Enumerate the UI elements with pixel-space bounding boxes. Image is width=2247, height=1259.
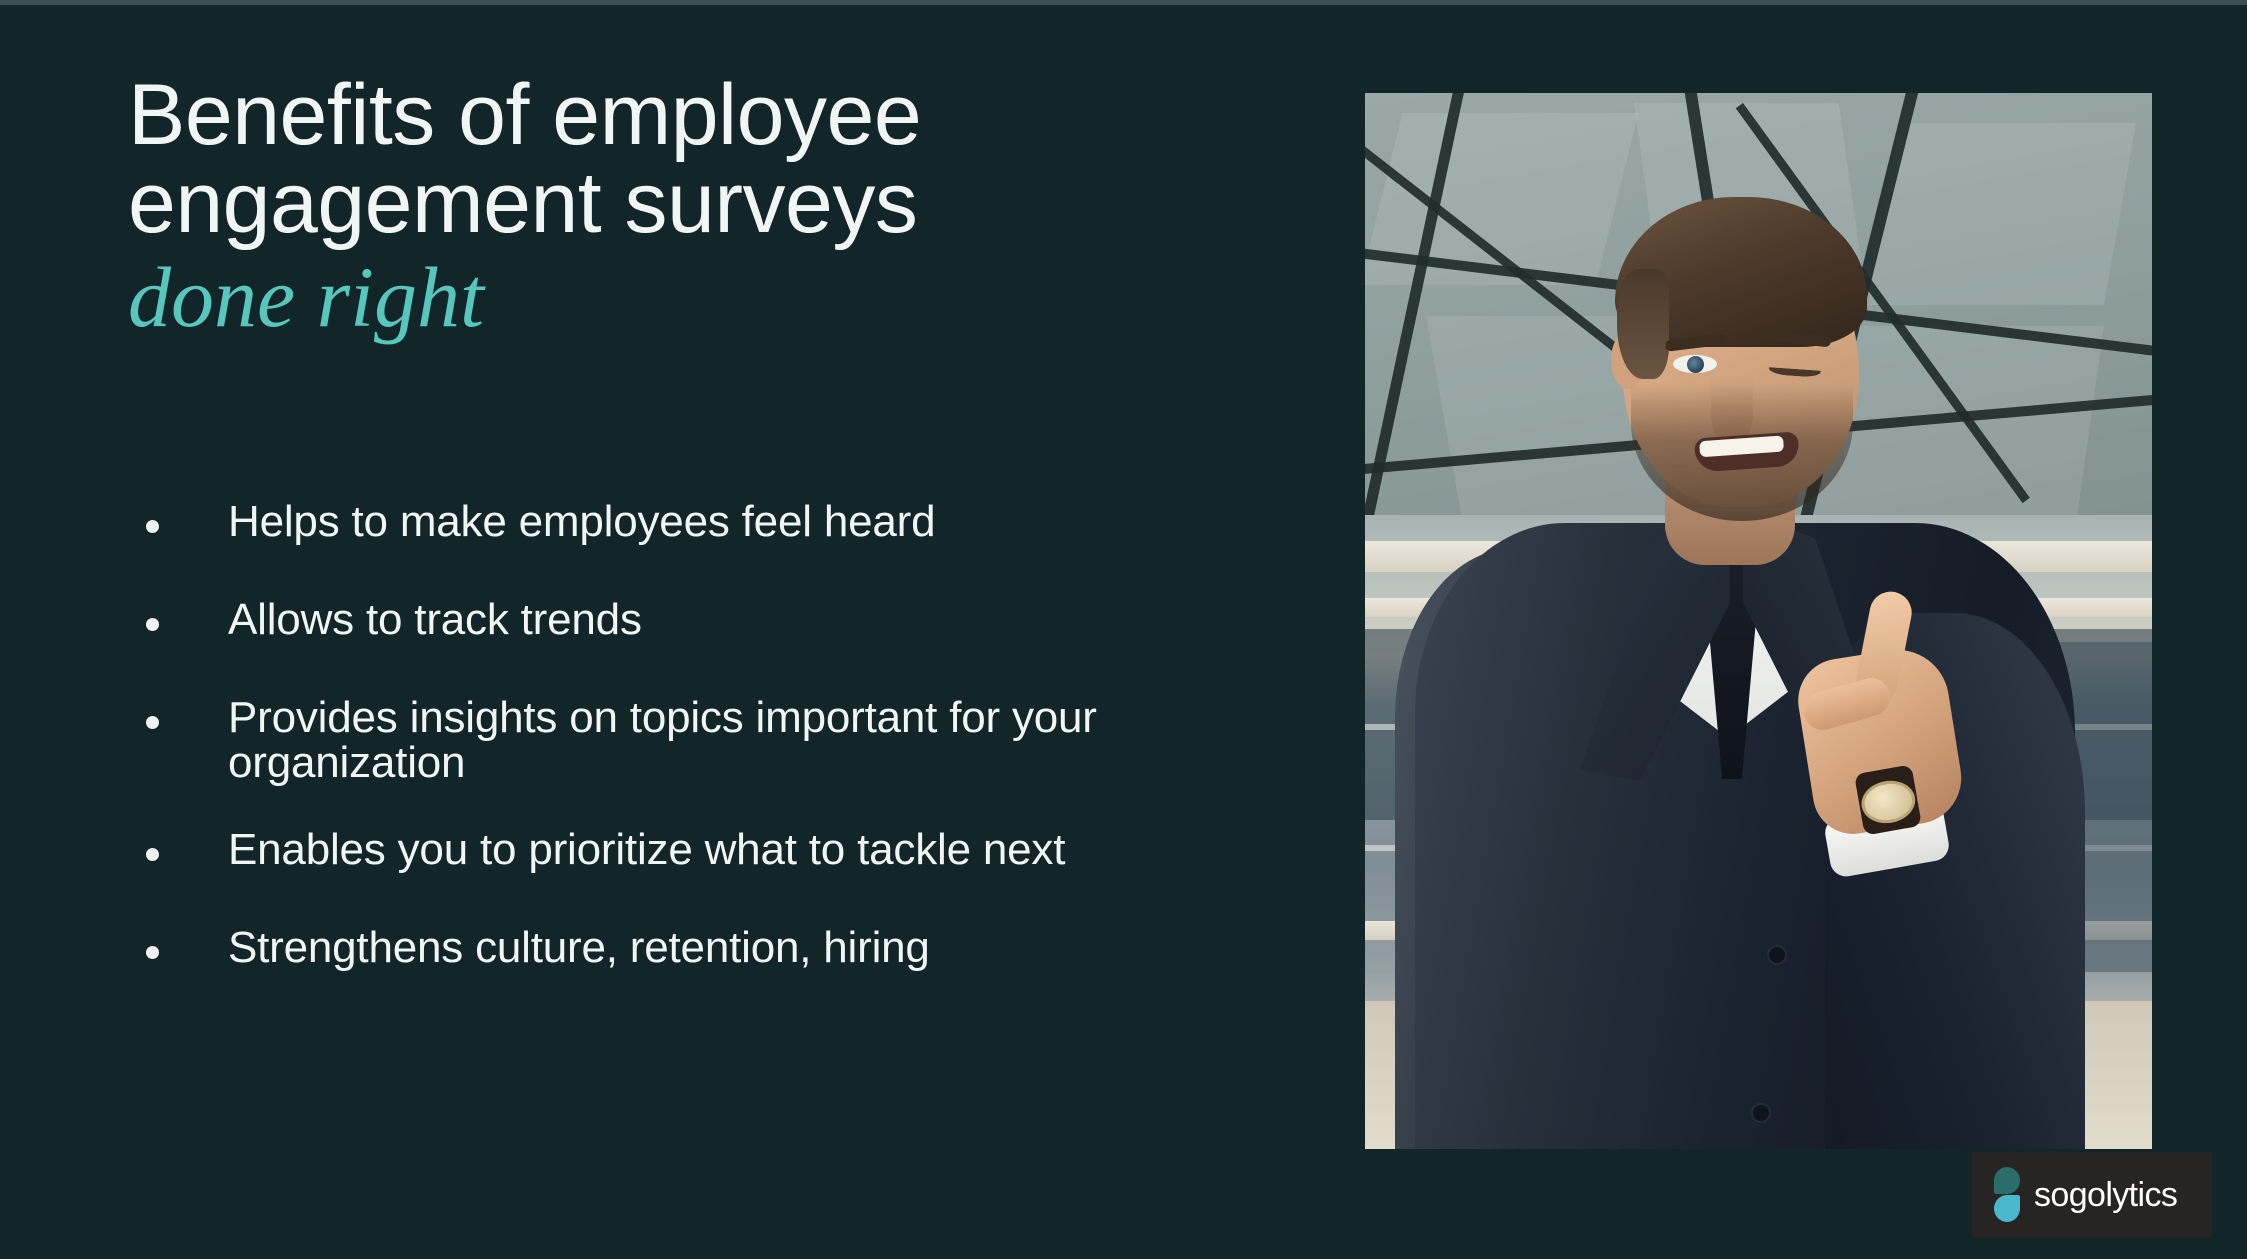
list-item: Allows to track trends xyxy=(128,598,1328,654)
list-item: Enables you to prioritize what to tackle… xyxy=(128,828,1328,884)
page-title: Benefits of employee engagement surveys … xyxy=(128,72,1308,346)
suit-button xyxy=(1767,945,1787,965)
list-item-label: Enables you to prioritize what to tackle… xyxy=(228,828,1328,873)
bullet-dot-icon xyxy=(146,618,159,631)
bullet-dot-icon xyxy=(146,716,159,729)
list-item-label: Provides insights on topics important fo… xyxy=(228,696,1328,786)
top-edge-strip xyxy=(0,0,2247,5)
bullet-dot-icon xyxy=(146,848,159,861)
bullet-dot-icon xyxy=(146,520,159,533)
list-item-label: Strengthens culture, retention, hiring xyxy=(228,926,1328,971)
title-line-1: Benefits of employee xyxy=(128,72,1308,160)
hero-photo xyxy=(1365,93,2152,1149)
sogolytics-logo[interactable]: sogolytics xyxy=(1972,1152,2212,1238)
bullet-dot-icon xyxy=(146,946,159,959)
eye-open xyxy=(1673,355,1717,373)
person-figure xyxy=(1365,93,2152,1149)
slide: Benefits of employee engagement surveys … xyxy=(0,0,2247,1259)
benefits-list: Helps to make employees feel heard Allow… xyxy=(128,500,1328,982)
list-item: Helps to make employees feel heard xyxy=(128,500,1328,556)
photo-inner xyxy=(1365,93,2152,1149)
droplet-top-shape xyxy=(1994,1167,2020,1194)
hair-side xyxy=(1617,269,1669,379)
list-item-label: Allows to track trends xyxy=(228,598,1328,643)
title-line-2: engagement surveys xyxy=(128,160,1308,248)
title-block: Benefits of employee engagement surveys … xyxy=(128,72,1308,346)
teeth xyxy=(1699,435,1784,457)
list-item: Provides insights on topics important fo… xyxy=(128,696,1328,786)
iris xyxy=(1687,356,1704,373)
sogolytics-wordmark: sogolytics xyxy=(2034,1178,2177,1212)
suit-button xyxy=(1751,1103,1771,1123)
list-item: Strengthens culture, retention, hiring xyxy=(128,926,1328,982)
sogolytics-droplet-icon xyxy=(1992,1167,2022,1223)
droplet-bottom-shape xyxy=(1994,1195,2020,1222)
title-accent-line: done right xyxy=(128,249,1308,345)
list-item-label: Helps to make employees feel heard xyxy=(228,500,1328,545)
